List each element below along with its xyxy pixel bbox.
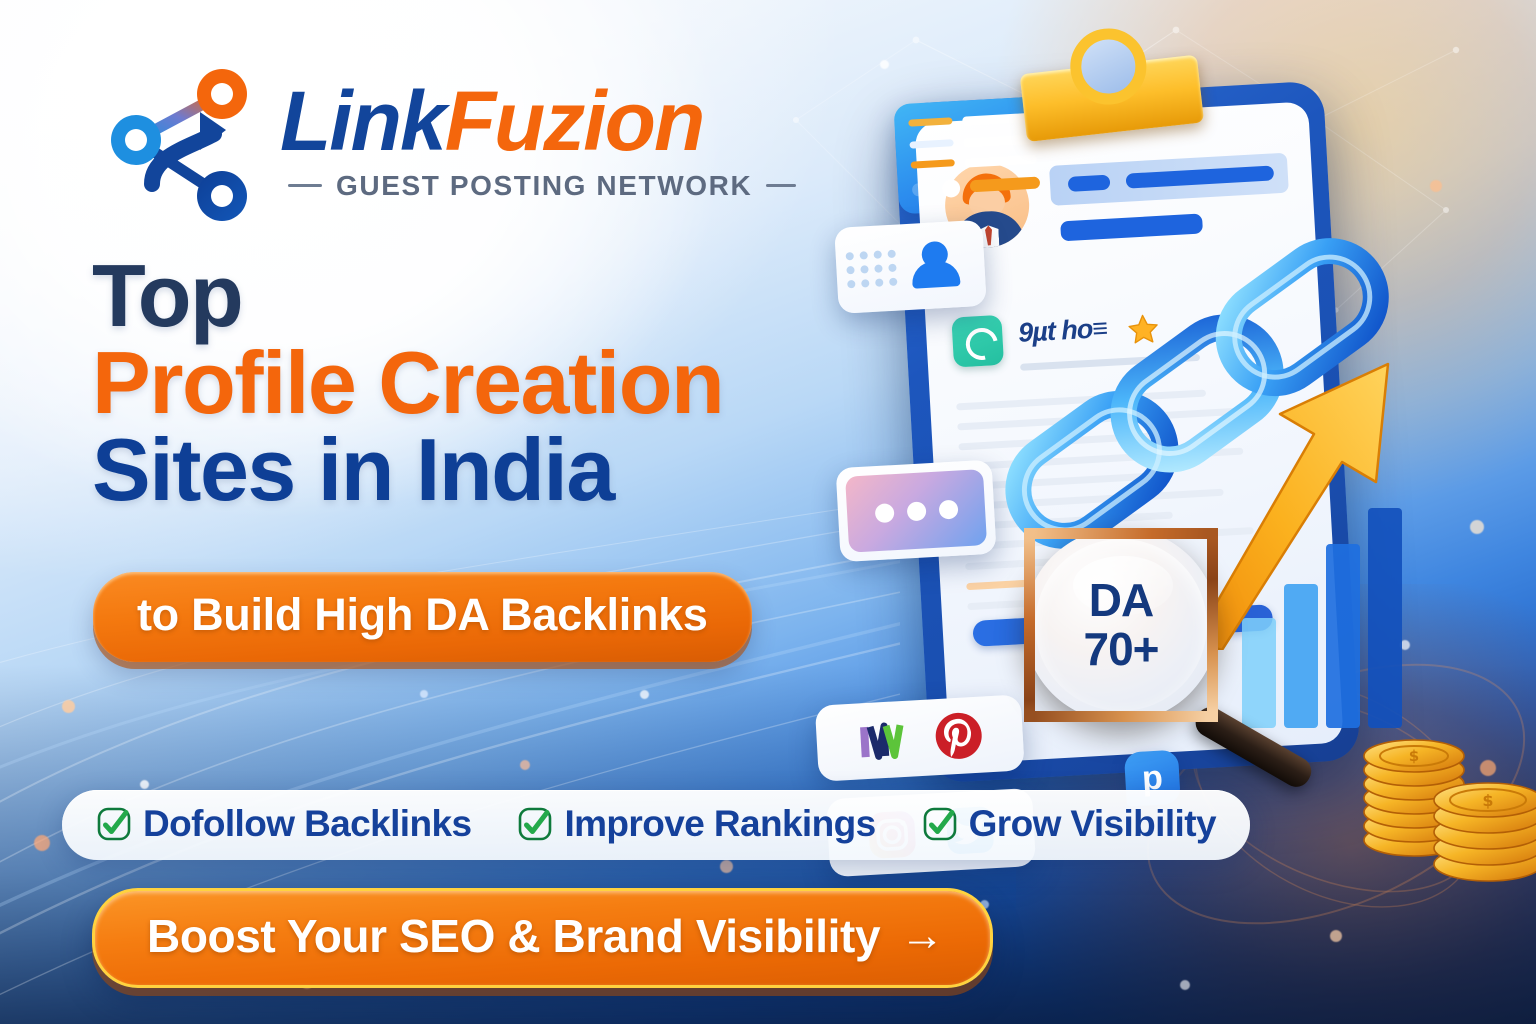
wordmark-fuzion: Fuzion	[445, 74, 704, 168]
magnifying-glass-icon: DA 70+	[1018, 522, 1328, 772]
da-value: 70+	[1083, 626, 1158, 673]
brand-wordmark: LinkFuzion GUEST POSTING NETWORK	[280, 68, 796, 202]
left-content-panel: LinkFuzion GUEST POSTING NETWORK Top Pro…	[0, 0, 860, 1024]
magnifier-handle	[1191, 702, 1317, 792]
feature-item-dofollow-backlinks: Dofollow Backlinks	[96, 803, 471, 845]
feature-list: Dofollow Backlinks Improve Rankings	[62, 790, 1250, 860]
feature-label: Improve Rankings	[564, 803, 875, 845]
svg-text:$: $	[1409, 747, 1419, 765]
magnifier-lens: DA 70+	[1024, 528, 1218, 722]
page-title: Top Profile Creation Sites in India	[92, 252, 723, 513]
subheadline-label: to Build High DA Backlinks	[137, 589, 708, 641]
medium-m-icon	[853, 713, 908, 768]
headline-line-3: Sites in India	[92, 426, 723, 513]
da-label: DA	[1089, 577, 1153, 624]
headline-line-2: Profile Creation	[92, 339, 723, 426]
tagline-dash-right	[766, 184, 796, 187]
feature-label: Grow Visibility	[969, 803, 1216, 845]
arrow-right-icon: →	[900, 914, 944, 958]
brand-tagline-row: GUEST POSTING NETWORK	[288, 170, 796, 202]
green-check-icon	[517, 806, 553, 842]
wordmark-text: LinkFuzion	[280, 82, 796, 162]
network-link-logo-icon	[96, 68, 274, 228]
wordmark-link: Link	[280, 74, 445, 168]
brand-logo[interactable]: LinkFuzion GUEST POSTING NETWORK	[96, 68, 796, 228]
illustration-artwork: 9µt ho≡	[836, 0, 1536, 1024]
brand-tagline: GUEST POSTING NETWORK	[336, 170, 752, 202]
tagline-dash-left	[288, 184, 322, 187]
da-badge: DA 70+	[1035, 539, 1207, 711]
feature-label: Dofollow Backlinks	[143, 803, 471, 845]
seo-marketing-banner: 9µt ho≡	[0, 0, 1536, 1024]
green-check-icon	[96, 806, 132, 842]
person-card-icon	[905, 236, 964, 295]
svg-text:$: $	[1482, 791, 1493, 810]
feature-item-improve-rankings: Improve Rankings	[517, 803, 875, 845]
cta-button[interactable]: Boost Your SEO & Brand Visibility →	[92, 888, 993, 988]
pinterest-icon	[931, 708, 986, 763]
gold-coins-icon: $ $	[1352, 712, 1536, 882]
green-check-icon	[922, 806, 958, 842]
headline-line-1: Top	[92, 252, 723, 339]
cta-label: Boost Your SEO & Brand Visibility	[147, 909, 880, 963]
feature-item-grow-visibility: Grow Visibility	[922, 803, 1216, 845]
subheadline-pill: to Build High DA Backlinks	[93, 572, 752, 662]
